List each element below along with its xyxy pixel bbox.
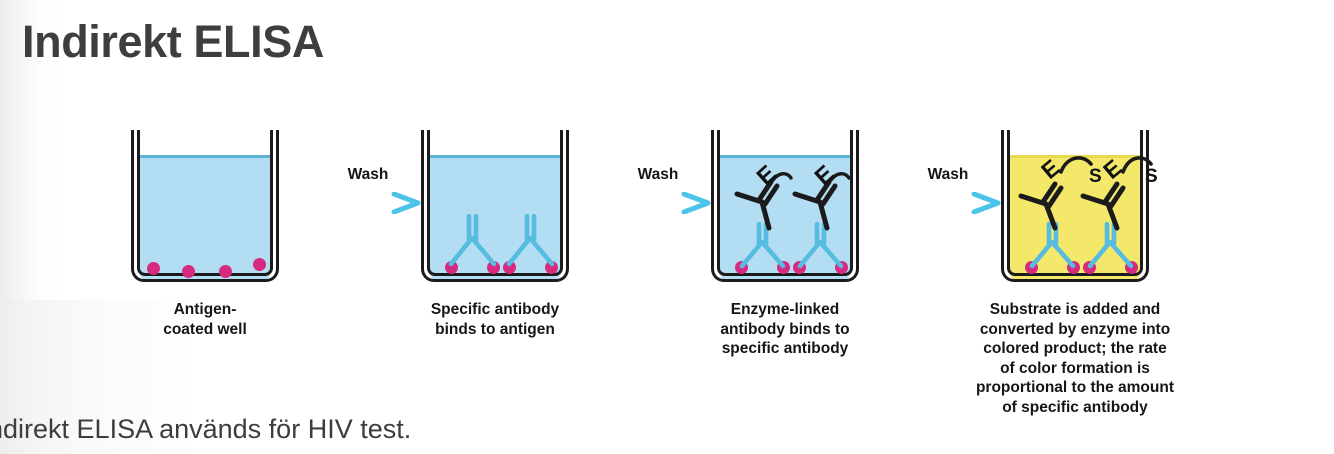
stage-substrate-added: E S E S	[970, 112, 1180, 417]
stage-caption-4: Substrate is added and converted by enzy…	[952, 300, 1198, 417]
well-outline-inner-1	[137, 130, 273, 276]
well-1	[127, 130, 283, 290]
well-2	[417, 130, 573, 290]
stage-specific-antibody: Specific antibody binds to antigen	[390, 112, 600, 339]
elisa-figure: Antigen- coated well Wash	[0, 112, 1334, 432]
antibody-blue-icon	[445, 214, 501, 272]
page-title: Indirekt ELISA	[22, 16, 324, 68]
stage-caption-2: Specific antibody binds to antigen	[390, 300, 600, 339]
antibody-blue-icon	[503, 214, 559, 272]
antigen-dot	[147, 262, 160, 275]
antigen-dot	[253, 258, 266, 271]
well-3: E E	[707, 130, 863, 290]
stage-caption-1: Antigen- coated well	[100, 300, 310, 339]
stage-caption-3: Enzyme-linked antibody binds to specific…	[680, 300, 890, 359]
substrate-label-S: S	[1145, 166, 1158, 188]
slide-body-text: ndirekt ELISA används för HIV test.	[0, 414, 411, 445]
stage-antigen-coated-well: Antigen- coated well	[100, 112, 310, 339]
substrate-label-S: S	[1089, 166, 1102, 188]
stage-enzyme-linked-antibody: E E Enzyme-linked ant	[680, 112, 890, 359]
antigen-dot	[219, 265, 232, 278]
well-4: E S E S	[997, 130, 1153, 290]
antigen-dot	[182, 265, 195, 278]
